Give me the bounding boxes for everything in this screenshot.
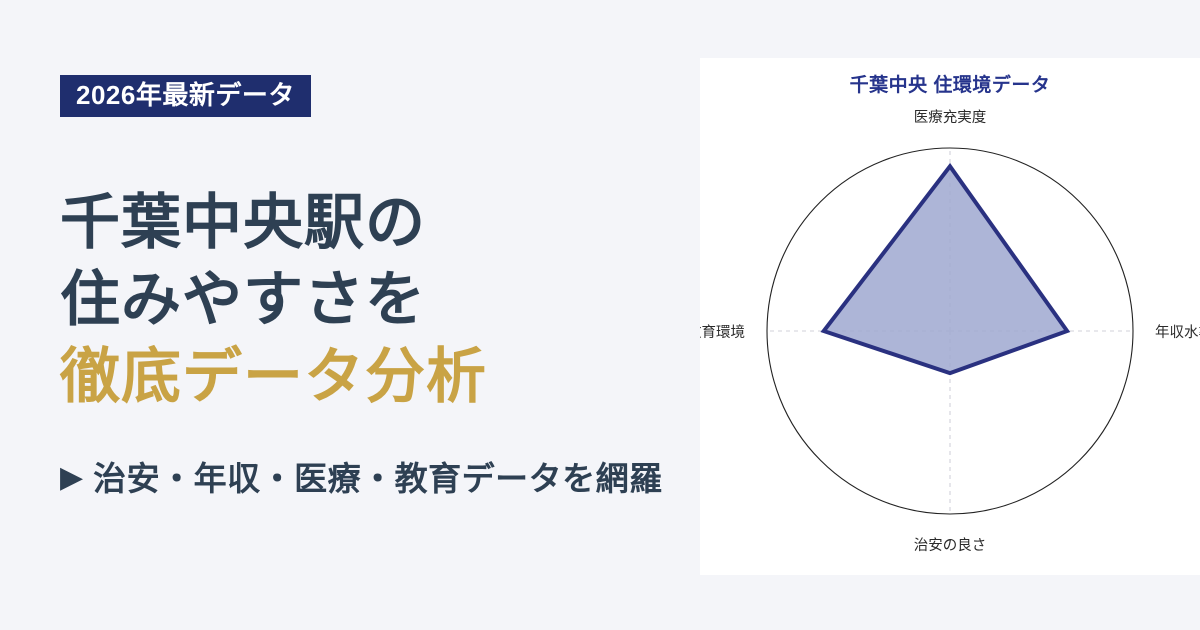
latest-data-badge: 2026年最新データ bbox=[60, 75, 311, 117]
radar-data-polygon bbox=[824, 166, 1067, 373]
triangle-right-icon: ▶ bbox=[60, 463, 83, 493]
left-text-column: 2026年最新データ 千葉中央駅の 住みやすさを 徹底データ分析 ▶ 治安・年収… bbox=[60, 0, 700, 630]
radar-chart-panel: 千葉中央 住環境データ 医療充実度 年収水準 治安の良さ 教育環境 bbox=[700, 58, 1200, 575]
page-title: 千葉中央駅の 住みやすさを 徹底データ分析 bbox=[60, 185, 700, 415]
headline-line-2: 住みやすさを bbox=[60, 262, 700, 339]
headline-line-3-accent: 徹底データ分析 bbox=[60, 339, 700, 416]
subtitle: ▶ 治安・年収・医療・教育データを網羅 bbox=[60, 462, 720, 495]
axis-label-education: 教育環境 bbox=[700, 323, 745, 341]
axis-label-safety: 治安の良さ bbox=[914, 537, 987, 554]
promo-card: 2026年最新データ 千葉中央駅の 住みやすさを 徹底データ分析 ▶ 治安・年収… bbox=[0, 0, 1200, 630]
axis-label-medical: 医療充実度 bbox=[914, 109, 987, 126]
axis-label-income: 年収水準 bbox=[1155, 324, 1200, 341]
radar-chart: 医療充実度 年収水準 治安の良さ 教育環境 bbox=[700, 58, 1200, 575]
headline-line-1: 千葉中央駅の bbox=[60, 185, 700, 262]
subtitle-text: 治安・年収・医療・教育データを網羅 bbox=[93, 462, 663, 495]
